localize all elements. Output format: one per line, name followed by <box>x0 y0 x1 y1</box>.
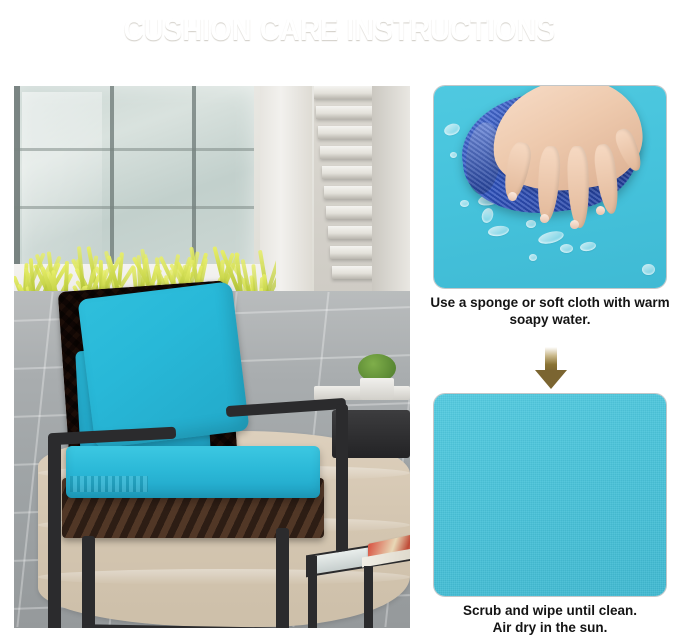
fingernail <box>570 220 579 229</box>
step-2-caption-line-1: Scrub and wipe until clean. <box>424 602 676 619</box>
water-droplet <box>443 122 462 138</box>
step-2-caption-line-2: Air dry in the sun. <box>424 619 676 636</box>
window-rail <box>14 148 254 151</box>
water-droplet <box>642 264 655 275</box>
chair-arm-post-right <box>336 404 348 554</box>
finger <box>567 146 591 229</box>
water-droplet <box>560 244 573 253</box>
window-rail <box>14 206 254 209</box>
water-droplet <box>537 229 565 246</box>
chair-leg-front-right <box>276 528 289 628</box>
water-droplet <box>460 200 469 207</box>
patio-chair <box>48 278 348 628</box>
fingernail <box>596 206 605 215</box>
step-1-caption: Use a sponge or soft cloth with warm soa… <box>424 294 676 328</box>
water-droplet <box>529 254 537 261</box>
step-2-image <box>434 394 666 596</box>
side-table <box>306 538 410 628</box>
water-droplet <box>487 225 509 238</box>
arrow-head <box>535 370 567 389</box>
fabric-texture <box>434 394 666 596</box>
side-table-leg <box>308 556 317 628</box>
down-arrow-icon <box>535 347 567 389</box>
chair-seat-cushion <box>66 446 320 498</box>
chair-back-cushion <box>77 281 249 449</box>
side-table-leg <box>364 566 373 628</box>
water-droplet <box>480 207 495 225</box>
water-droplet <box>450 152 457 158</box>
fingernail <box>540 214 549 223</box>
header-banner: CUSHION CARE INSTRUCTIONS <box>0 0 679 68</box>
chair-leg-front-left <box>82 536 95 628</box>
step-1-image <box>434 86 666 288</box>
main-product-photo: EASY TO CLEAN <box>14 86 410 628</box>
water-droplet <box>579 241 596 253</box>
cushion-pleat <box>70 476 148 492</box>
stair-wall <box>372 86 410 296</box>
flower-pot <box>360 378 394 400</box>
product-infographic: CUSHION CARE INSTRUCTIONS <box>0 0 679 642</box>
chair-base-rail <box>82 624 290 628</box>
chair-arm-post-left <box>48 436 61 628</box>
page-title: CUSHION CARE INSTRUCTIONS <box>41 12 639 48</box>
water-droplet <box>526 220 536 228</box>
arrow-shaft <box>545 347 557 372</box>
step-2-caption: Scrub and wipe until clean. Air dry in t… <box>424 602 676 636</box>
